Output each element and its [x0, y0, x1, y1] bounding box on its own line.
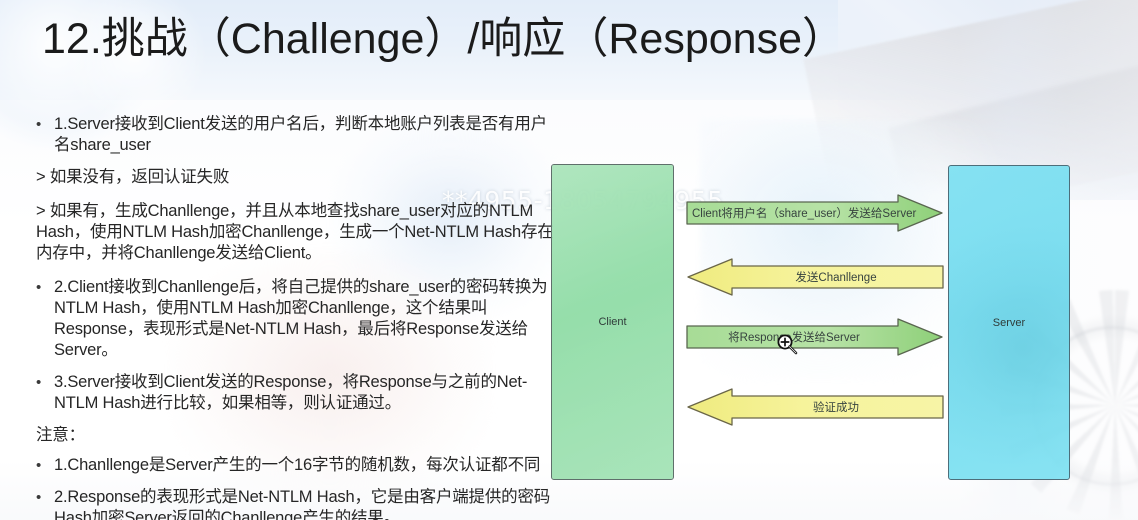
- diagram-node-server: Server: [948, 165, 1070, 480]
- diagram-arrow-2: 发送Chanllenge: [686, 258, 944, 296]
- diagram-node-client: Client: [551, 164, 674, 480]
- diagram-arrow-3: 将Response发送给Server: [686, 318, 944, 356]
- sequence-diagram: Client Server Client将用户名（share_user）发送给S…: [0, 0, 1138, 520]
- slide-canvas: 12.挑战（Challenge）/响应（Response） **4955-180…: [0, 0, 1138, 520]
- diagram-arrow-1: Client将用户名（share_user）发送给Server: [686, 194, 944, 232]
- diagram-node-client-label: Client: [598, 316, 626, 328]
- diagram-arrow-4: 验证成功: [686, 388, 944, 426]
- diagram-node-server-label: Server: [993, 317, 1025, 329]
